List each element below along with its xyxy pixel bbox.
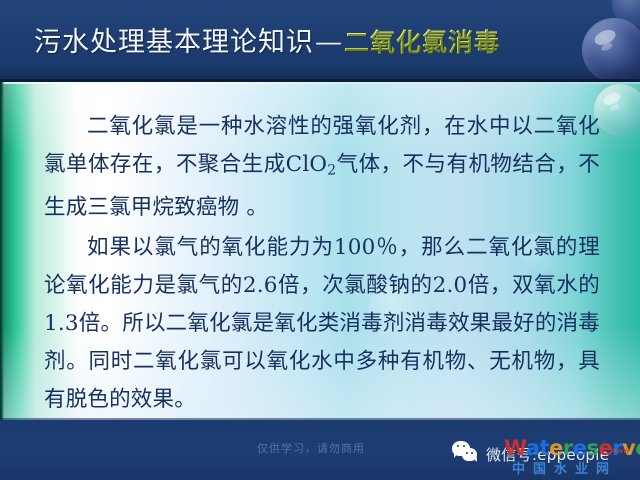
content-left-edge-accent [0,82,4,420]
slide-title: 污水处理基本理论知识—二氧化氯消毒 [34,26,500,60]
wechat-dot-icon [471,452,473,454]
watermark-letter: a [526,436,540,460]
slide-title-dash: — [314,27,344,58]
wechat-bubble-tail-icon [454,453,458,458]
bubble-highlight-icon [602,91,622,108]
slide-body-text: 二氧化氯是一种水溶性的强氧化剂，在水中以二氧化氯单体存在，不聚合生成ClO2气体… [44,108,600,420]
bubble-highlight-icon [600,42,613,53]
wechat-icon [452,441,480,463]
body-paragraph-1: 二氧化氯是一种水溶性的强氧化剂，在水中以二氧化氯单体存在，不聚合生成ClO2气体… [44,108,600,227]
body-paragraph-2: 如果以氯气的氧化能力为100％，那么二氧化氯的理论氧化能力是氯气的2.6倍，次氯… [44,229,600,419]
slide-title-main: 污水处理基本理论知识 [34,27,314,58]
decorative-bubble-icon [582,18,640,82]
watermark-url-suffix: www [610,446,630,455]
watermark-letter: e [549,436,563,460]
slide-content-panel: 二氧化氯是一种水溶性的强氧化剂，在水中以二氧化氯单体存在，不聚合生成ClO2气体… [0,82,640,420]
slide-root: 污水处理基本理论知识—二氧化氯消毒 二氧化氯是一种水溶性的强氧化剂，在水中以二氧… [0,0,640,480]
watermark-letter: s [587,436,599,460]
slide-title-accent: 二氧化氯消毒 [344,28,500,57]
decorative-bubble-icon [612,0,640,26]
watermark-letter: W [504,436,526,460]
wechat-bubble-tail-icon [473,458,477,462]
clo2-subscript: 2 [327,162,336,178]
wechat-dot-icon [466,452,468,454]
bubble-highlight-icon [609,103,620,112]
watermark-letter: e [573,436,587,460]
slide-header-band: 污水处理基本理论知识—二氧化氯消毒 [0,0,640,82]
footer-brand-group: 微信号:eppeople Watereserve 中国水业网 www [452,436,640,476]
decorative-bubble-icon [594,84,640,136]
watermark-letter: r [563,436,573,460]
footer-disclaimer: 仅供学习，请勿商用 [257,440,365,456]
wechat-dot-icon [463,445,465,447]
content-top-edge [0,82,640,84]
bubble-highlight-icon [592,27,617,48]
watermark-subtitle: 中国水业网 [512,458,617,477]
wechat-dot-icon [457,445,459,447]
watermark-letter: e [635,436,640,460]
watermark-letter: t [540,436,550,460]
